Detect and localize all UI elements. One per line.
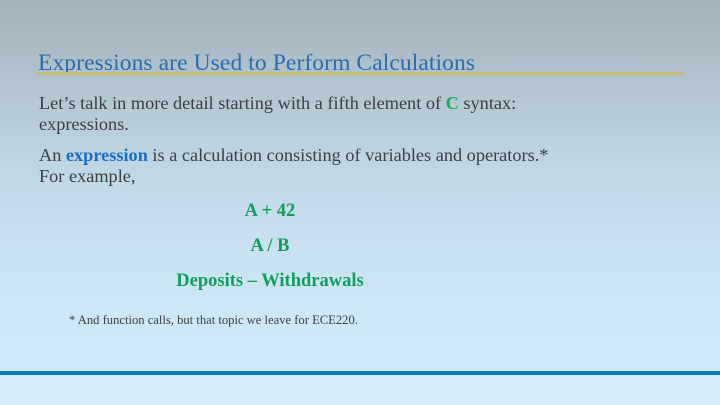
footer-region: ECE 120: Introduction to Computing © 201… [0, 375, 720, 405]
body-paragraph-2: An expression is a calculation consistin… [39, 145, 559, 187]
keyword-expression: expression [66, 145, 148, 165]
example-expression: A + 42 [40, 201, 500, 222]
body-paragraph-1: Let’s talk in more detail starting with … [39, 93, 559, 135]
paragraph-1-text-before: Let’s talk in more detail starting with … [39, 93, 446, 113]
example-expression: A / B [40, 236, 500, 257]
paragraph-2-text-before: An [39, 145, 66, 165]
title-divider [38, 72, 683, 75]
footnote-text: * And function calls, but that topic we … [69, 313, 358, 328]
keyword-c: C [446, 93, 459, 113]
example-expressions: A + 42 A / B Deposits – Withdrawals [40, 201, 500, 292]
slide-body: Let’s talk in more detail starting with … [39, 93, 559, 187]
slide-canvas: Expressions are Used to Perform Calculat… [0, 0, 720, 405]
example-expression: Deposits – Withdrawals [40, 271, 500, 292]
